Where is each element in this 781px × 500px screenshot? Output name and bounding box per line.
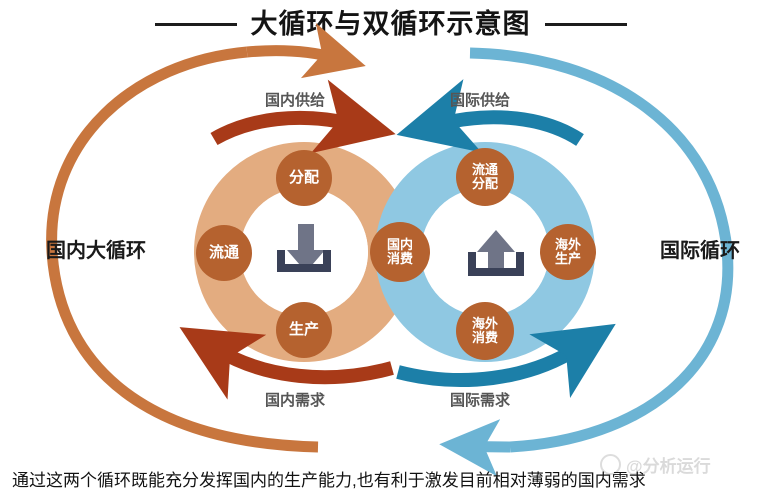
- node-liutong-fenpei-line1: 流通: [472, 163, 498, 177]
- arrow-domestic-supply: [214, 118, 352, 139]
- arrow-international-supply: [440, 117, 580, 140]
- node-shengchan-label: 生产: [289, 322, 319, 338]
- node-haiwai-xiaofei-line1: 海外: [472, 317, 498, 331]
- node-liutong-fenpei-line2: 分配: [472, 177, 498, 191]
- node-haiwai-shengchan-line2: 生产: [555, 252, 581, 266]
- node-liutong[interactable]: 流通: [196, 225, 252, 281]
- label-domestic-demand: 国内需求: [265, 392, 325, 409]
- node-haiwai-shengchan-line1: 海外: [555, 238, 581, 252]
- node-haiwai-xiaofei[interactable]: 海外 消费: [456, 302, 514, 360]
- node-haiwai-shengchan[interactable]: 海外 生产: [540, 224, 596, 280]
- node-guonei-xiaofei-line1: 国内: [387, 238, 413, 252]
- node-shengchan[interactable]: 生产: [276, 302, 332, 358]
- label-international-demand: 国际需求: [450, 392, 510, 409]
- label-international-supply: 国际供给: [450, 92, 510, 109]
- caption-text: 通过这两个循环既能充分发挥国内的生产能力,也有利于激发目前相对薄弱的国内需求: [12, 466, 772, 491]
- label-domestic-supply: 国内供给: [265, 92, 325, 109]
- diagram-canvas: 大循环与双循环示意图: [0, 0, 781, 500]
- node-liutong-fenpei[interactable]: 流通 分配: [456, 148, 514, 206]
- label-domestic-cycle: 国内大循环: [46, 240, 146, 263]
- node-fenpei-label: 分配: [289, 170, 319, 186]
- label-international-cycle: 国际循环: [660, 240, 740, 263]
- node-haiwai-xiaofei-line2: 消费: [472, 331, 498, 345]
- node-fenpei[interactable]: 分配: [276, 150, 332, 206]
- node-guonei-xiaofei-line2: 消费: [387, 252, 413, 266]
- node-guonei-xiaofei[interactable]: 国内 消费: [370, 222, 430, 282]
- node-liutong-label: 流通: [209, 245, 239, 261]
